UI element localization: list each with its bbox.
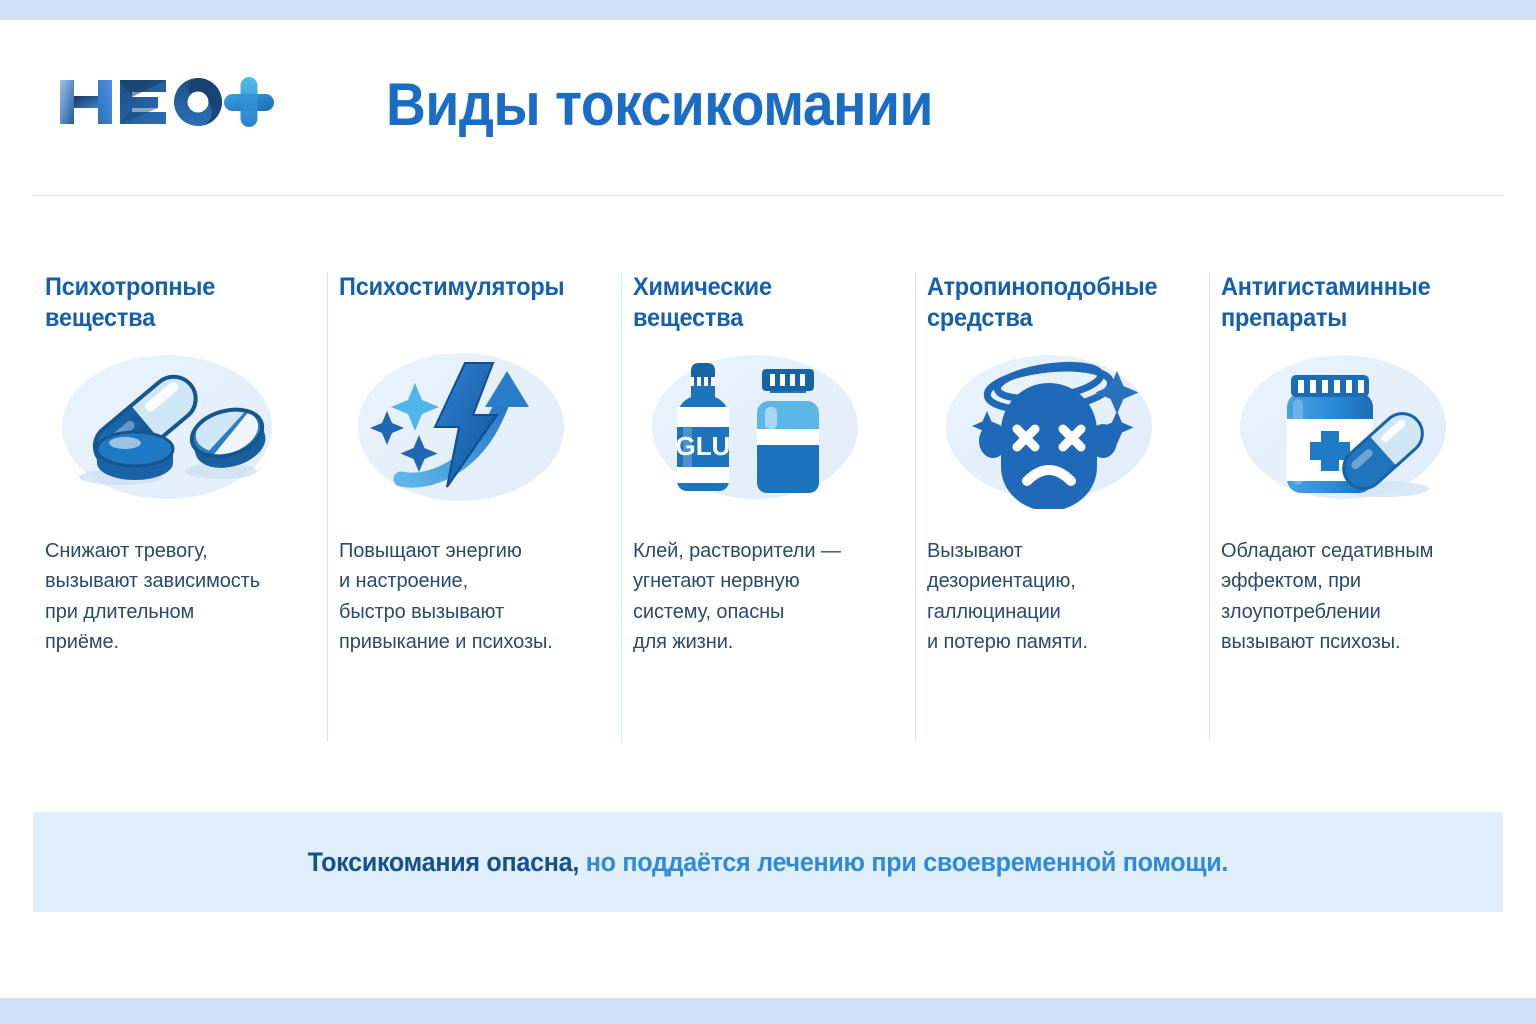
- categories-row: Психотропные вещества: [33, 272, 1503, 742]
- category-title: Химические вещества: [633, 272, 877, 334]
- category-description: Повыщают энергию и настроение, быстро вы…: [339, 536, 599, 658]
- category-card-stimulants: Психостимуляторы: [327, 272, 621, 742]
- category-description: Клей, растворители — угнетают нервную си…: [633, 536, 893, 658]
- category-card-antihistamines: Антигистаминные препараты: [1209, 272, 1503, 742]
- pills-capsule-icon: [45, 344, 305, 514]
- category-title: Психостимуляторы: [339, 272, 583, 334]
- page-title: Виды токсикомании: [386, 75, 933, 135]
- category-title: Антигистаминные препараты: [1221, 272, 1465, 334]
- lightning-bolt-arrow-icon: [339, 344, 599, 514]
- footer-message: Токсикомания опасна, но поддаётся лечени…: [308, 847, 1228, 878]
- footer-banner: Токсикомания опасна, но поддаётся лечени…: [33, 812, 1503, 912]
- category-title: Психотропные вещества: [45, 272, 289, 334]
- header: Виды токсикомании: [0, 20, 1536, 195]
- neo-plus-logo: [46, 66, 286, 138]
- bottom-decorative-band: [0, 998, 1536, 1024]
- category-card-atropine: Атропиноподобные средства: [915, 272, 1209, 742]
- footer-message-strong: Токсикомания опасна,: [308, 847, 579, 877]
- category-card-chemicals: Химические вещества: [621, 272, 915, 742]
- category-card-psychotropic: Психотропные вещества: [33, 272, 327, 742]
- glue-solvent-bottles-icon: GLU: [633, 344, 893, 514]
- medicine-bottle-capsule-icon: [1221, 344, 1481, 514]
- category-description: Снижают тревогу, вызывают зависимость пр…: [45, 536, 305, 658]
- category-description: Обладают седативным эффектом, при злоупо…: [1221, 536, 1481, 658]
- category-title: Атропиноподобные средства: [927, 272, 1171, 334]
- dizzy-face-icon: [927, 344, 1187, 514]
- header-divider: [33, 195, 1503, 196]
- footer-message-light: но поддаётся лечению при своевременной п…: [579, 847, 1228, 877]
- top-decorative-band: [0, 0, 1536, 20]
- category-description: Вызывают дезориентацию, галлюцинации и п…: [927, 536, 1187, 658]
